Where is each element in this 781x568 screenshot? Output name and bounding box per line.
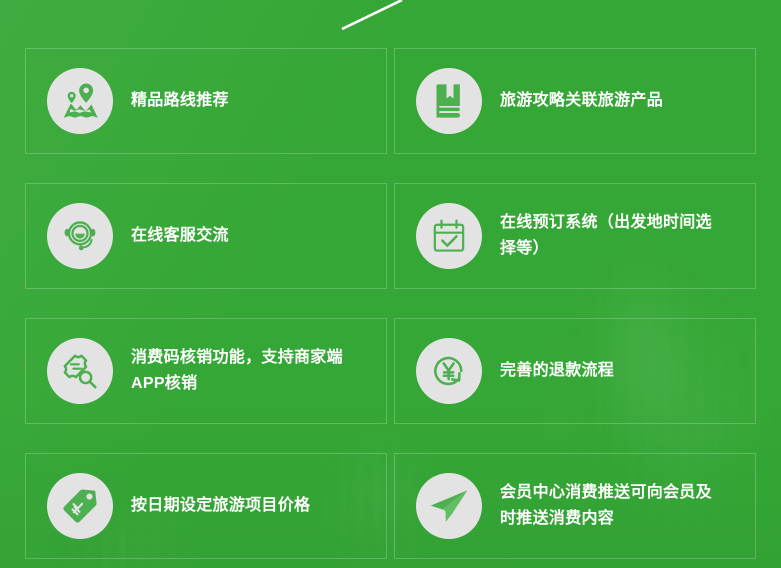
feature-label: 在线预订系统（出发地时间选择等） [500, 210, 712, 262]
feature-cell-online-customer-service[interactable]: 在线客服交流 [25, 183, 387, 289]
feature-grid: 精品路线推荐 旅游攻略关联旅游产品 [25, 48, 756, 559]
paper-plane-send-icon [416, 473, 482, 539]
feature-label: 完善的退款流程 [500, 358, 614, 384]
feature-label: 旅游攻略关联旅游产品 [500, 88, 663, 114]
book-bookmark-icon [416, 68, 482, 134]
feature-cell-consumption-code-verification[interactable]: 消费码核销功能，支持商家端APP核销 [25, 318, 387, 424]
decorative-diagonal-line [341, 0, 403, 30]
feature-label: 消费码核销功能，支持商家端APP核销 [131, 345, 343, 397]
yuan-refund-icon [416, 338, 482, 404]
ticket-search-icon [47, 338, 113, 404]
feature-cell-travel-guide-products[interactable]: 旅游攻略关联旅游产品 [394, 48, 756, 154]
feature-label: 按日期设定旅游项目价格 [131, 493, 310, 519]
feature-cell-date-based-pricing[interactable]: 按日期设定旅游项目价格 [25, 453, 387, 559]
calendar-check-icon [416, 203, 482, 269]
feature-cell-route-recommendation[interactable]: 精品路线推荐 [25, 48, 387, 154]
feature-label: 精品路线推荐 [131, 88, 229, 114]
price-tag-yuan-icon [47, 473, 113, 539]
feature-board: 精品路线推荐 旅游攻略关联旅游产品 [0, 0, 781, 568]
feature-label: 在线客服交流 [131, 223, 229, 249]
feature-cell-refund-process[interactable]: 完善的退款流程 [394, 318, 756, 424]
feature-cell-online-booking-system[interactable]: 在线预订系统（出发地时间选择等） [394, 183, 756, 289]
feature-label: 会员中心消费推送可向会员及时推送消费内容 [500, 480, 712, 532]
map-location-pin-icon [47, 68, 113, 134]
headset-support-icon [47, 203, 113, 269]
feature-cell-member-push-notification[interactable]: 会员中心消费推送可向会员及时推送消费内容 [394, 453, 756, 559]
